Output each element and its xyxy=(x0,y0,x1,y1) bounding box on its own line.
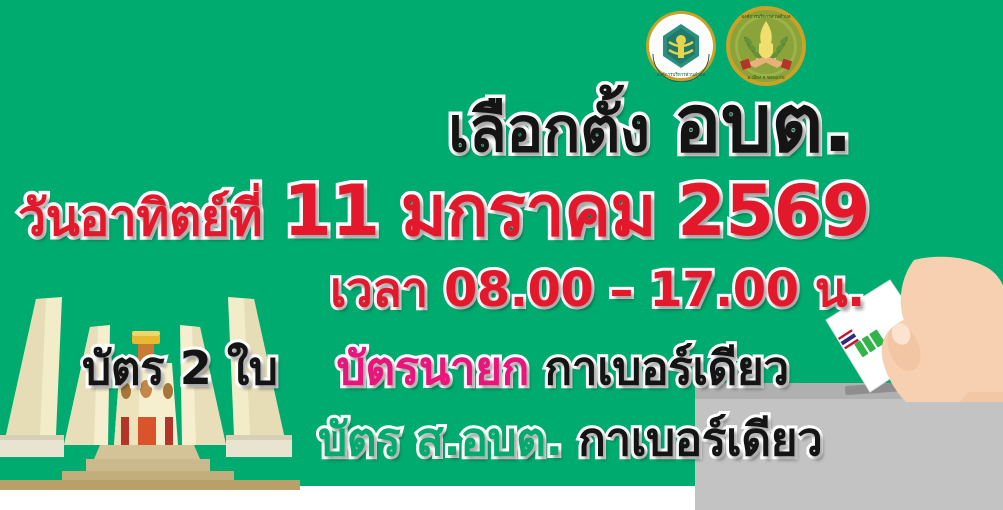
time-line: เวลา 08.00 – 17.00 น. xyxy=(330,266,865,314)
election-poster: องค์การบริหารส่วนตำบล xyxy=(0,0,1003,510)
emblem-group: องค์การบริหารส่วนตำบล xyxy=(645,5,815,87)
date-day: 11 xyxy=(283,170,379,252)
ballot-count-badge: บัตร 2 ใบ xyxy=(82,341,277,395)
headline: เลือกตั้ง อบต. xyxy=(448,84,853,164)
royal-thai-government-emblem-icon: องค์การบริหารส่วนตำบล xyxy=(645,10,717,82)
ballot-line-1: บัตร 2 ใบ บัตรนายก กาเบอร์เดียว xyxy=(82,345,789,391)
ballot-instruction-council: กาเบอร์เดียว xyxy=(578,412,822,466)
monument-wing-outer-left xyxy=(0,297,64,457)
date-line: วันอาทิตย์ที่ 11 มกราคม 2569 xyxy=(18,176,870,246)
ballot-line-2: บัตร ส.อบต. กาเบอร์เดียว xyxy=(318,416,822,462)
date-month: มกราคม xyxy=(401,170,656,252)
ballot-instruction-mayor: กาเบอร์เดียว xyxy=(544,341,788,395)
headline-main: อบต. xyxy=(673,77,852,170)
ballot-type-council: บัตร ส.อบต. xyxy=(318,412,563,466)
sao-seal-icon: องค์การบริหารส่วนตำบล อ.เมือง จ.ขอนแก่น xyxy=(725,5,807,87)
svg-text:องค์การบริหารส่วนตำบล: องค์การบริหารส่วนตำบล xyxy=(741,13,790,20)
ballot-type-mayor: บัตรนายก xyxy=(337,341,529,395)
hand-icon xyxy=(881,257,1003,402)
date-year: 2569 xyxy=(677,170,870,252)
headline-prefix: เลือกตั้ง xyxy=(448,93,650,166)
time-text: เวลา 08.00 – 17.00 น. xyxy=(330,262,865,318)
date-weekday: วันอาทิตย์ที่ xyxy=(18,189,262,247)
